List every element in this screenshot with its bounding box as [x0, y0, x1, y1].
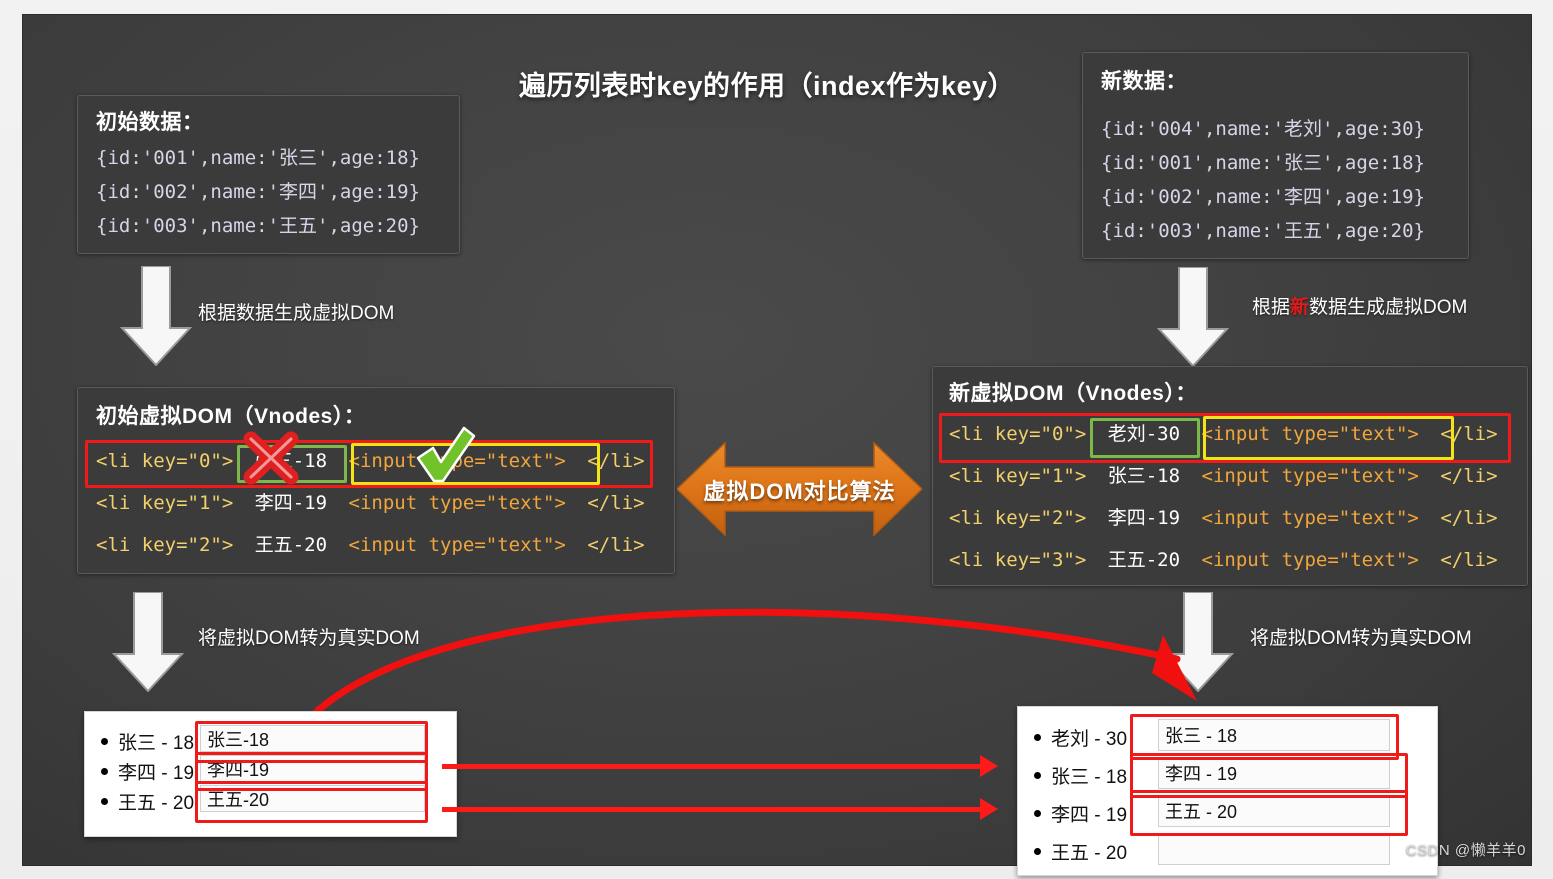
page-title: 遍历列表时key的作用（index作为key） [477, 64, 1057, 103]
old-vnode-row: <li key="1"> 李四-19 <input type="text"> <… [96, 488, 645, 515]
red-arrow-line [442, 807, 982, 812]
red-arrow-head [980, 755, 998, 777]
list-item: 张三 - 18 [1034, 762, 1127, 789]
old-vnodes-panel: 初始虚拟DOM（Vnodes）： <li key="0"> 张三-18 <inp… [77, 387, 675, 574]
new-vnode-row: <li key="2"> 李四-19 <input type="text"> <… [949, 503, 1498, 530]
vnode-close-tag: </li> [1430, 465, 1497, 487]
vnode-open-tag: <li key="2"> [96, 534, 233, 556]
red-arrow-line [442, 764, 982, 769]
vnode-open-tag: <li key="0"> [949, 423, 1086, 445]
bullet-icon [1034, 772, 1041, 779]
vnode-text: 老刘-30 [1098, 423, 1190, 445]
list-item: 王五 - 20 [101, 788, 194, 815]
real-dom-left: 张三 - 18 李四 - 19 王五 - 20 张三-18 李四-19 王五-2… [84, 711, 457, 837]
list-item: 老刘 - 30 [1034, 724, 1127, 751]
vnode-close-tag: </li> [577, 492, 644, 514]
text-input[interactable]: 张三 - 18 [1158, 719, 1390, 751]
vnode-open-tag: <li key="2"> [949, 507, 1086, 529]
list-item-label: 老刘 - 30 [1051, 724, 1127, 751]
new-data-row: {id:'002',name:'李四',age:19} [1101, 182, 1425, 209]
diagram-canvas: 遍历列表时key的作用（index作为key） 初始数据： {id:'001',… [22, 14, 1532, 866]
vnode-input-tag: <input type="text"> [349, 492, 566, 514]
vnode-input-tag: <input type="text"> [349, 534, 566, 556]
slide-background: 遍历列表时key的作用（index作为key） 初始数据： {id:'001',… [0, 0, 1553, 879]
vnode-text: 李四-19 [245, 492, 337, 514]
vnode-close-tag: </li> [577, 534, 644, 556]
text-input[interactable]: 王五-20 [200, 785, 425, 812]
list-item: 王五 - 20 [1034, 838, 1127, 865]
arrow-data-to-vnode-left [120, 266, 192, 366]
vnode-text: 张三-18 [1098, 465, 1190, 487]
vnode-open-tag: <li key="3"> [949, 549, 1086, 571]
vnode-text: 王五-20 [1098, 549, 1190, 571]
text-input[interactable]: 李四-19 [200, 755, 425, 782]
vnode-close-tag: </li> [1430, 549, 1497, 571]
old-vnode-row: <li key="2"> 王五-20 <input type="text"> <… [96, 530, 645, 557]
vnode-open-tag: <li key="1"> [949, 465, 1086, 487]
list-item: 李四 - 19 [101, 758, 194, 785]
bullet-icon [1034, 734, 1041, 741]
arrow-vnode-to-real-left [112, 592, 184, 692]
new-data-heading: 新数据： [1101, 65, 1187, 95]
bullet-icon [1034, 810, 1041, 817]
vnode-close-tag: </li> [1430, 423, 1497, 445]
list-item-label: 王五 - 20 [118, 788, 194, 815]
new-data-row: {id:'004',name:'老刘',age:30} [1101, 114, 1425, 141]
real-dom-right: 老刘 - 30 张三 - 18 李四 - 19 王五 - 20 张三 - 18 … [1017, 706, 1438, 876]
red-arrow-head [980, 798, 998, 820]
vnode-text: 王五-20 [245, 534, 337, 556]
new-vnodes-heading: 新虚拟DOM（Vnodes）： [949, 377, 1197, 407]
arrow-data-to-vnode-right [1157, 267, 1229, 367]
new-vnode-row: <li key="0"> 老刘-30 <input type="text"> <… [949, 419, 1498, 446]
list-item-label: 王五 - 20 [1051, 838, 1127, 865]
new-data-row: {id:'003',name:'王五',age:20} [1101, 216, 1425, 243]
vnode-input-tag: <input type="text"> [1202, 507, 1419, 529]
arrow-label-highlight: 新 [1290, 297, 1309, 318]
vnode-input-tag: <input type="text"> [349, 450, 566, 472]
vnode-close-tag: </li> [1430, 507, 1497, 529]
arrow-label-data-to-vnode-right: 根据新数据生成虚拟DOM [1252, 292, 1467, 319]
list-item-label: 张三 - 18 [1051, 762, 1127, 789]
list-item: 张三 - 18 [101, 728, 194, 755]
list-item-label: 李四 - 19 [118, 758, 194, 785]
new-vnode-row: <li key="1"> 张三-18 <input type="text"> <… [949, 461, 1498, 488]
old-vnodes-heading: 初始虚拟DOM（Vnodes）： [96, 400, 365, 430]
arrow-vnode-to-real-right [1162, 592, 1234, 692]
vnode-input-tag: <input type="text"> [1202, 465, 1419, 487]
text-input[interactable]: 张三-18 [200, 725, 425, 752]
new-vnodes-panel: 新虚拟DOM（Vnodes）： <li key="0"> 老刘-30 <inpu… [932, 366, 1528, 586]
bullet-icon [101, 768, 108, 775]
new-data-panel: 新数据： {id:'004',name:'老刘',age:30} {id:'00… [1082, 52, 1469, 259]
vnode-close-tag: </li> [577, 450, 644, 472]
arrow-label-suffix: 数据生成虚拟DOM [1309, 297, 1467, 318]
arrow-label-prefix: 根据 [1252, 297, 1290, 318]
initial-data-row: {id:'003',name:'王五',age:20} [96, 211, 420, 238]
initial-data-panel: 初始数据： {id:'001',name:'张三',age:18} {id:'0… [77, 95, 460, 254]
list-item-label: 张三 - 18 [118, 728, 194, 755]
vnode-input-tag: <input type="text"> [1202, 423, 1419, 445]
watermark: CSDN @懒羊羊0 [1406, 839, 1526, 860]
list-item: 李四 - 19 [1034, 800, 1127, 827]
initial-data-row: {id:'002',name:'李四',age:19} [96, 177, 420, 204]
bullet-icon [101, 738, 108, 745]
initial-data-row: {id:'001',name:'张三',age:18} [96, 143, 420, 170]
vnode-input-tag: <input type="text"> [1202, 549, 1419, 571]
bullet-icon [101, 798, 108, 805]
bullet-icon [1034, 848, 1041, 855]
list-item-label: 李四 - 19 [1051, 800, 1127, 827]
new-data-row: {id:'001',name:'张三',age:18} [1101, 148, 1425, 175]
old-vnode-row: <li key="0"> 张三-18 <input type="text"> <… [96, 446, 645, 473]
arrow-label-data-to-vnode-left: 根据数据生成虚拟DOM [198, 298, 394, 325]
text-input[interactable]: 王五 - 20 [1158, 795, 1390, 827]
arrow-label-vnode-to-real-left: 将虚拟DOM转为真实DOM [198, 623, 420, 650]
text-input[interactable]: 李四 - 19 [1158, 757, 1390, 789]
diff-algorithm-label: 虚拟DOM对比算法 [677, 437, 922, 542]
text-input[interactable] [1158, 833, 1390, 865]
initial-data-heading: 初始数据： [96, 106, 204, 136]
arrow-label-vnode-to-real-right: 将虚拟DOM转为真实DOM [1250, 623, 1472, 650]
new-vnode-row: <li key="3"> 王五-20 <input type="text"> <… [949, 545, 1498, 572]
vnode-text: 李四-19 [1098, 507, 1190, 529]
vnode-open-tag: <li key="0"> [96, 450, 233, 472]
vnode-open-tag: <li key="1"> [96, 492, 233, 514]
vnode-text: 张三-18 [245, 450, 337, 472]
diff-algorithm-arrow: 虚拟DOM对比算法 [677, 437, 922, 542]
